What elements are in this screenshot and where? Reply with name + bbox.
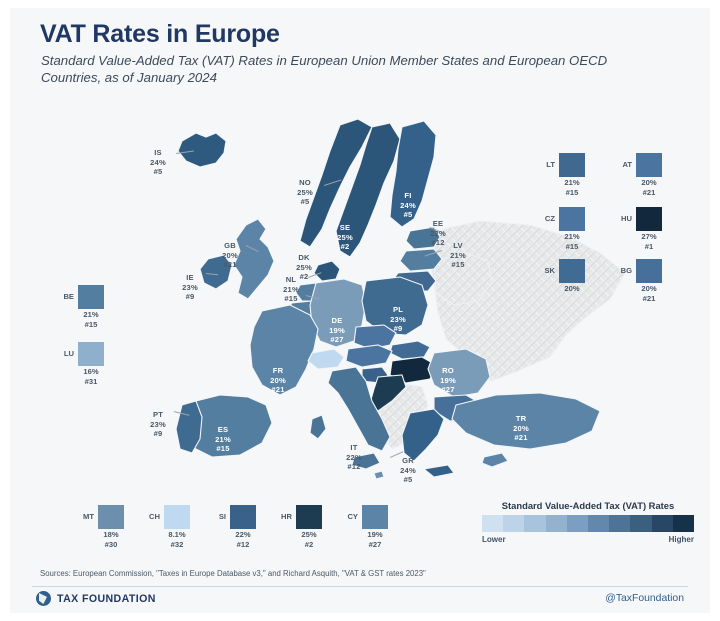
map-svg: [10, 113, 710, 503]
swatch-country-code: SK: [537, 266, 555, 275]
swatch-rate: 19%: [367, 530, 382, 539]
swatch-color-chip: [98, 505, 124, 529]
country-IT-sardinia: [310, 415, 326, 439]
country-SK: [390, 341, 430, 359]
swatch-rank: #31: [85, 377, 98, 386]
swatch-rate: 18%: [103, 530, 118, 539]
legend-title: Standard Value-Added Tax (VAT) Rates: [482, 500, 694, 511]
country-GR-crete: [424, 465, 454, 477]
swatch-color-chip: [636, 259, 662, 283]
legend-low-label: Lower: [482, 535, 506, 544]
swatch-color-chip: [362, 505, 388, 529]
country-CY: [482, 453, 508, 467]
country-swatch-cy: CY19%#27: [360, 505, 390, 549]
swatch-rank: #21: [643, 294, 656, 303]
swatch-color-chip: [559, 207, 585, 231]
swatch-rate: 25%: [301, 530, 316, 539]
swatch-color-chip: [636, 207, 662, 231]
swatch-rate: 16%: [83, 367, 98, 376]
shield-icon: [36, 591, 51, 606]
swatch-rate: 20%: [564, 284, 579, 293]
country-swatch-lt: LT21%#15: [557, 153, 587, 197]
country-IE: [200, 255, 232, 289]
swatch-country-code: MT: [76, 512, 94, 521]
country-swatch-at: AT20%#21: [634, 153, 664, 197]
swatch-color-chip: [230, 505, 256, 529]
swatch-country-code: HR: [274, 512, 292, 521]
country-swatch-sk: SK20%: [557, 259, 587, 294]
logo-text: TAX FOUNDATION: [57, 593, 156, 605]
swatch-country-code: CY: [340, 512, 358, 521]
legend-swatch-2: [524, 515, 545, 532]
swatch-color-chip: [296, 505, 322, 529]
country-RO: [428, 349, 490, 397]
swatch-rank: #15: [566, 188, 579, 197]
swatch-country-code: HU: [614, 214, 632, 223]
legend-swatch-7: [630, 515, 651, 532]
country-CH: [308, 349, 344, 369]
country-swatch-hr: HR25%#2: [294, 505, 324, 549]
country-swatch-bg: BG20%#21: [634, 259, 664, 303]
swatch-rate: 27%: [641, 232, 656, 241]
legend-swatch-1: [503, 515, 524, 532]
country-GB: [234, 219, 274, 299]
swatch-country-code: CH: [142, 512, 160, 521]
swatch-rank: #15: [85, 320, 98, 329]
swatch-color-chip: [78, 342, 104, 366]
swatch-rank: #21: [643, 188, 656, 197]
europe-choropleth-map: IS24%#5NO25%#5SE25%#2FI24%#5EE22%#12LV21…: [10, 113, 710, 503]
swatch-rate: 20%: [641, 178, 656, 187]
legend-swatch-4: [567, 515, 588, 532]
swatch-rate: 21%: [564, 178, 579, 187]
country-GR: [402, 409, 444, 461]
country-TR: [452, 393, 600, 449]
swatch-color-chip: [164, 505, 190, 529]
legend-high-label: Higher: [669, 535, 694, 544]
swatch-country-code: BE: [56, 292, 74, 301]
swatch-country-code: SI: [208, 512, 226, 521]
swatch-country-code: LU: [56, 349, 74, 358]
swatch-rate: 21%: [564, 232, 579, 241]
footer-divider: [32, 586, 688, 587]
footer-bar: TAX FOUNDATION @TaxFoundation: [10, 591, 710, 613]
swatch-rate: 21%: [83, 310, 98, 319]
legend-swatch-3: [546, 515, 567, 532]
swatch-rate: 22%: [235, 530, 250, 539]
country-swatch-be: BE21%#15: [76, 285, 106, 329]
page-subtitle: Standard Value-Added Tax (VAT) Rates in …: [41, 52, 641, 86]
social-handle[interactable]: @TaxFoundation: [605, 593, 684, 604]
legend-gradient-bar: [482, 515, 694, 532]
country-swatch-lu: LU16%#31: [76, 342, 106, 386]
country-AT: [346, 345, 392, 367]
swatch-rank: #27: [369, 540, 382, 549]
swatch-country-code: BG: [614, 266, 632, 275]
infographic-page: VAT Rates in Europe Standard Value-Added…: [0, 0, 720, 621]
country-IS: [178, 133, 226, 167]
swatch-country-code: AT: [614, 160, 632, 169]
country-swatch-hu: HU27%#1: [634, 207, 664, 251]
page-title: VAT Rates in Europe: [40, 20, 280, 49]
country-FR: [250, 305, 318, 395]
swatch-color-chip: [559, 259, 585, 283]
country-swatch-si: SI22%#12: [228, 505, 258, 549]
legend-swatch-8: [652, 515, 673, 532]
swatch-rate: 20%: [641, 284, 656, 293]
legend-swatch-5: [588, 515, 609, 532]
swatch-rank: #32: [171, 540, 184, 549]
tax-foundation-logo: TAX FOUNDATION: [36, 591, 156, 606]
country-swatch-mt: MT18%#30: [96, 505, 126, 549]
swatch-rank: #15: [566, 242, 579, 251]
swatch-rank: #30: [105, 540, 118, 549]
swatch-rate: 8.1%: [168, 530, 185, 539]
map-legend: Standard Value-Added Tax (VAT) Rates Low…: [482, 500, 694, 544]
infographic-canvas: VAT Rates in Europe Standard Value-Added…: [10, 8, 710, 613]
legend-swatch-0: [482, 515, 503, 532]
country-IT-sicily: [352, 453, 380, 469]
swatch-country-code: LT: [537, 160, 555, 169]
swatch-rank: #1: [645, 242, 653, 251]
sources-note: Sources: European Commission, "Taxes in …: [40, 569, 426, 578]
legend-swatch-6: [609, 515, 630, 532]
swatch-color-chip: [78, 285, 104, 309]
legend-swatch-9: [673, 515, 694, 532]
swatch-color-chip: [636, 153, 662, 177]
swatch-country-code: CZ: [537, 214, 555, 223]
country-swatch-cz: CZ21%#15: [557, 207, 587, 251]
country-swatch-ch: CH8.1%#32: [162, 505, 192, 549]
swatch-rank: #12: [237, 540, 250, 549]
country-MT: [374, 471, 384, 479]
country-DK: [314, 261, 340, 281]
swatch-color-chip: [559, 153, 585, 177]
swatch-rank: #2: [305, 540, 313, 549]
